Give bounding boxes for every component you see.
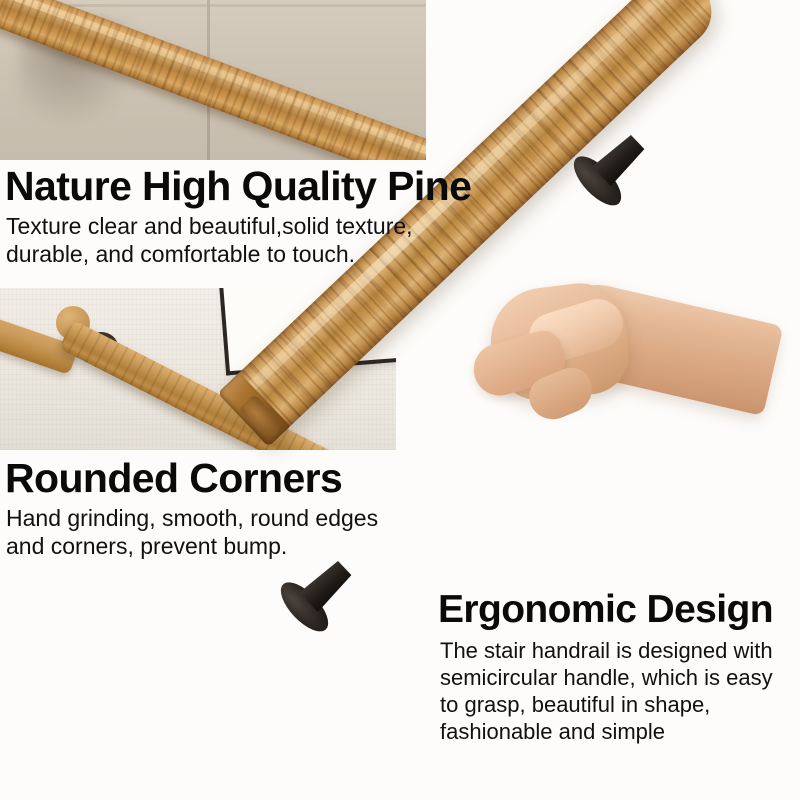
feature-heading-rounded-corners: Rounded Corners: [5, 455, 342, 501]
handrail-on-beige-wall-photo: [0, 0, 426, 160]
feature-body-rounded-corners: Hand grinding, smooth, round edges and c…: [6, 504, 406, 560]
feature-heading-pine: Nature High Quality Pine: [5, 163, 471, 209]
hand-gripping-handrail-photo: [455, 268, 755, 483]
feature-body-ergonomic-design: The stair handrail is designed with semi…: [440, 637, 790, 745]
feature-body-pine: Texture clear and beautiful,solid textur…: [6, 212, 426, 268]
product-feature-image: Nature High Quality Pine Texture clear a…: [0, 0, 800, 800]
feature-heading-ergonomic-design: Ergonomic Design: [438, 588, 773, 632]
